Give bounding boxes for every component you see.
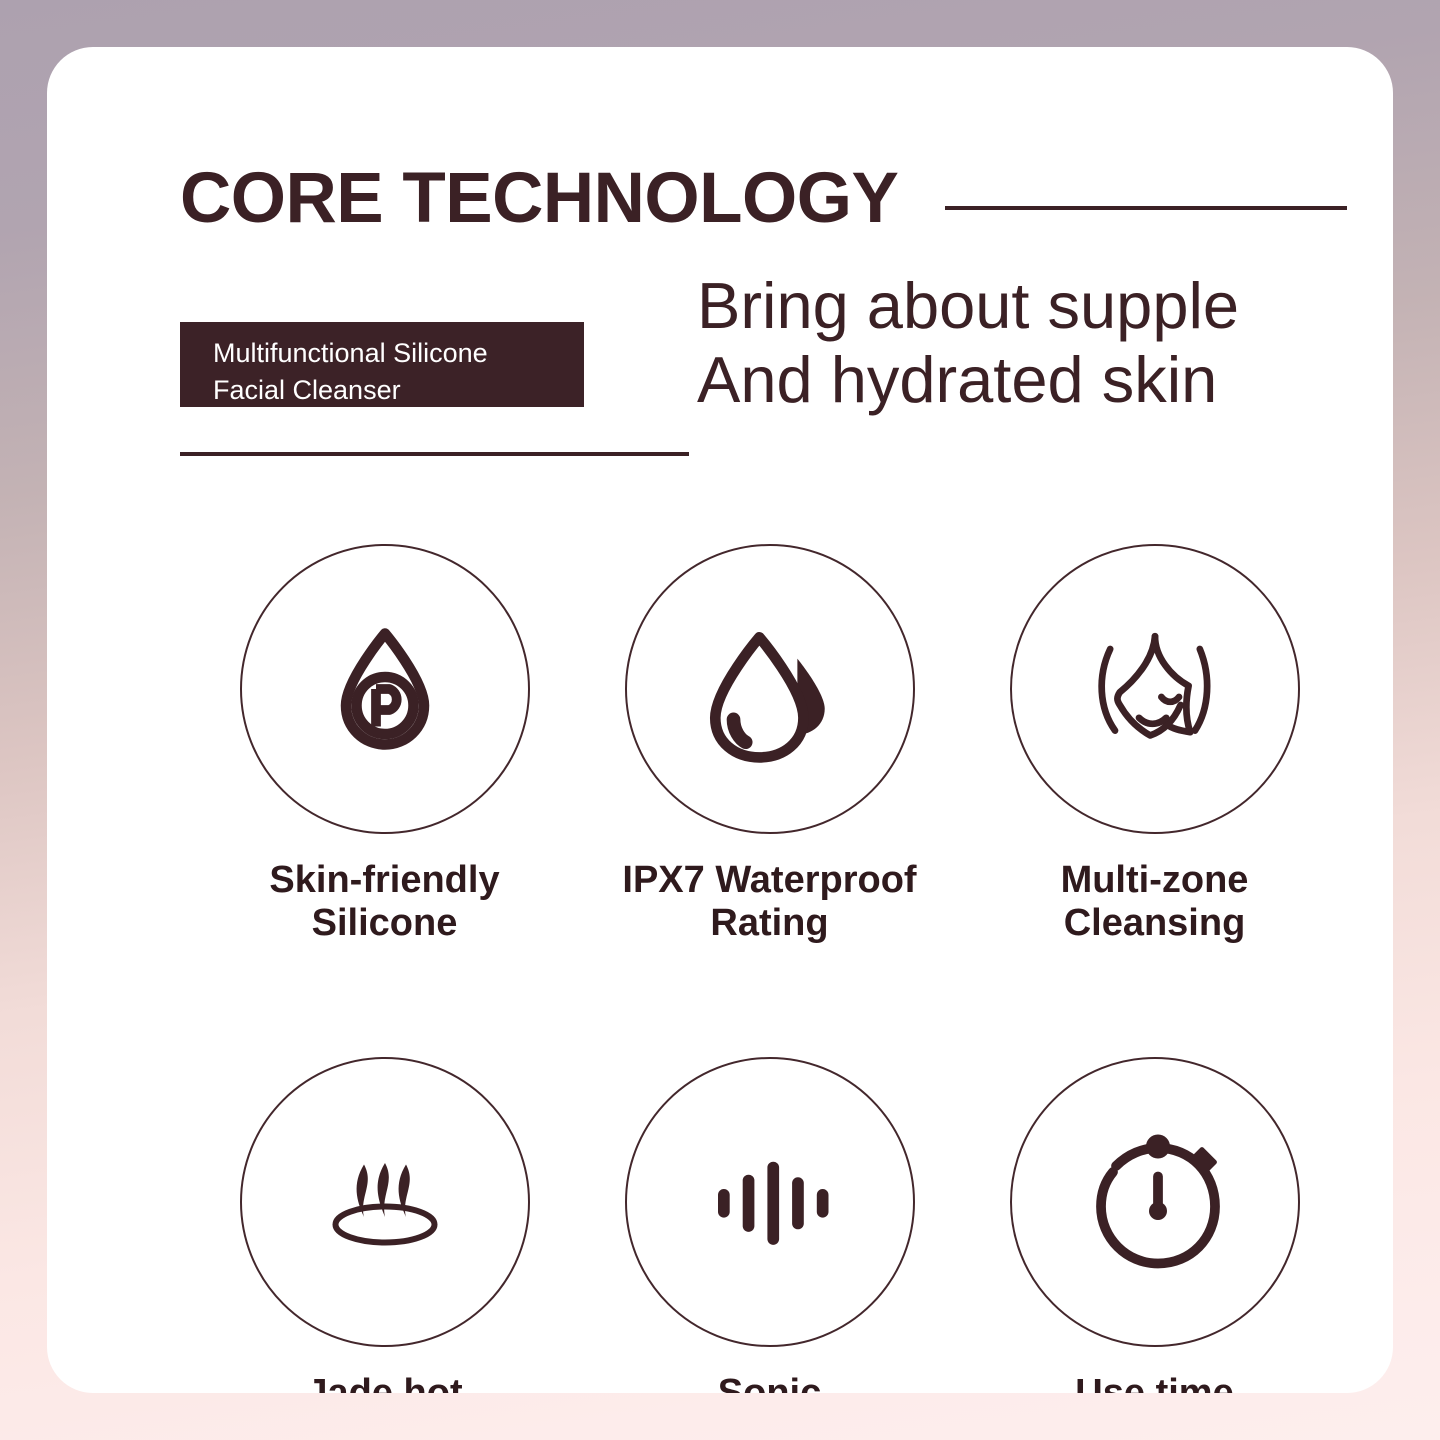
tagline-line-1: Bring about supple: [697, 269, 1357, 343]
feature-caption-line-1: Jade hot: [205, 1372, 564, 1393]
feature-row-top: Skin-friendly Silicone: [192, 544, 1347, 944]
feature-icon-circle: [240, 1057, 530, 1347]
feature-icon-circle: [240, 544, 530, 834]
feature-icon-circle: [1010, 1057, 1300, 1347]
feature-caption: Jade hot Compress massage: [205, 1372, 564, 1393]
badge-line-2: Facial Cleanser: [213, 372, 584, 409]
feature-caption-line-2: Silicone: [269, 902, 499, 945]
feature-caption-line-1: Skin-friendly: [269, 859, 499, 902]
feature-caption-line-1: Multi-zone: [1061, 859, 1249, 902]
hot-spring-steam-icon: [310, 1127, 460, 1277]
stopwatch-icon: [1080, 1127, 1230, 1277]
infographic-page: CORE TECHNOLOGY Bring about supple And h…: [0, 0, 1440, 1440]
feature-caption: Use time 2 hours: [1075, 1372, 1233, 1393]
product-badge: Multifunctional Silicone Facial Cleanser: [180, 322, 584, 407]
feature-item-skin-friendly-silicone: Skin-friendly Silicone: [192, 544, 577, 944]
woman-face-icon: [1075, 609, 1235, 769]
tagline-line-2: And hydrated skin: [697, 343, 1357, 417]
feature-item-multi-zone-cleansing: Multi-zone Cleansing: [962, 544, 1347, 944]
feature-caption-line-1: IPX7 Waterproof: [622, 859, 916, 902]
badge-divider: [180, 452, 689, 456]
feature-icon-circle: [625, 544, 915, 834]
feature-item-ipx7-waterproof-rating: IPX7 Waterproof Rating: [577, 544, 962, 944]
feature-caption-line-2: Rating: [622, 902, 916, 945]
feature-icon-circle: [1010, 544, 1300, 834]
feature-caption-line-1: Sonic: [688, 1372, 852, 1393]
tagline: Bring about supple And hydrated skin: [697, 269, 1357, 417]
feature-caption: Skin-friendly Silicone: [269, 859, 499, 944]
title-divider: [945, 206, 1347, 210]
feature-item-sonic-vibration: Sonic Vibration: [577, 1057, 962, 1393]
feature-caption: Multi-zone Cleansing: [1061, 859, 1249, 944]
feature-icon-circle: [625, 1057, 915, 1347]
content-card: CORE TECHNOLOGY Bring about supple And h…: [47, 47, 1393, 1393]
feature-row-bottom: Jade hot Compress massage: [192, 1057, 1347, 1393]
feature-caption-line-1: Use time: [1075, 1372, 1233, 1393]
feature-caption: IPX7 Waterproof Rating: [622, 859, 916, 944]
feature-item-use-time: Use time 2 hours: [962, 1057, 1347, 1393]
droplet-p-icon: [310, 614, 460, 764]
badge-line-1: Multifunctional Silicone: [213, 335, 584, 372]
feature-item-jade-hot-compress-massage: Jade hot Compress massage: [192, 1057, 577, 1393]
page-title: CORE TECHNOLOGY: [180, 163, 898, 234]
feature-caption: Sonic Vibration: [688, 1372, 852, 1393]
water-drops-icon: [694, 613, 846, 765]
feature-grid: Skin-friendly Silicone: [192, 544, 1347, 1393]
feature-caption-line-2: Cleansing: [1061, 902, 1249, 945]
sound-wave-icon: [705, 1137, 835, 1267]
